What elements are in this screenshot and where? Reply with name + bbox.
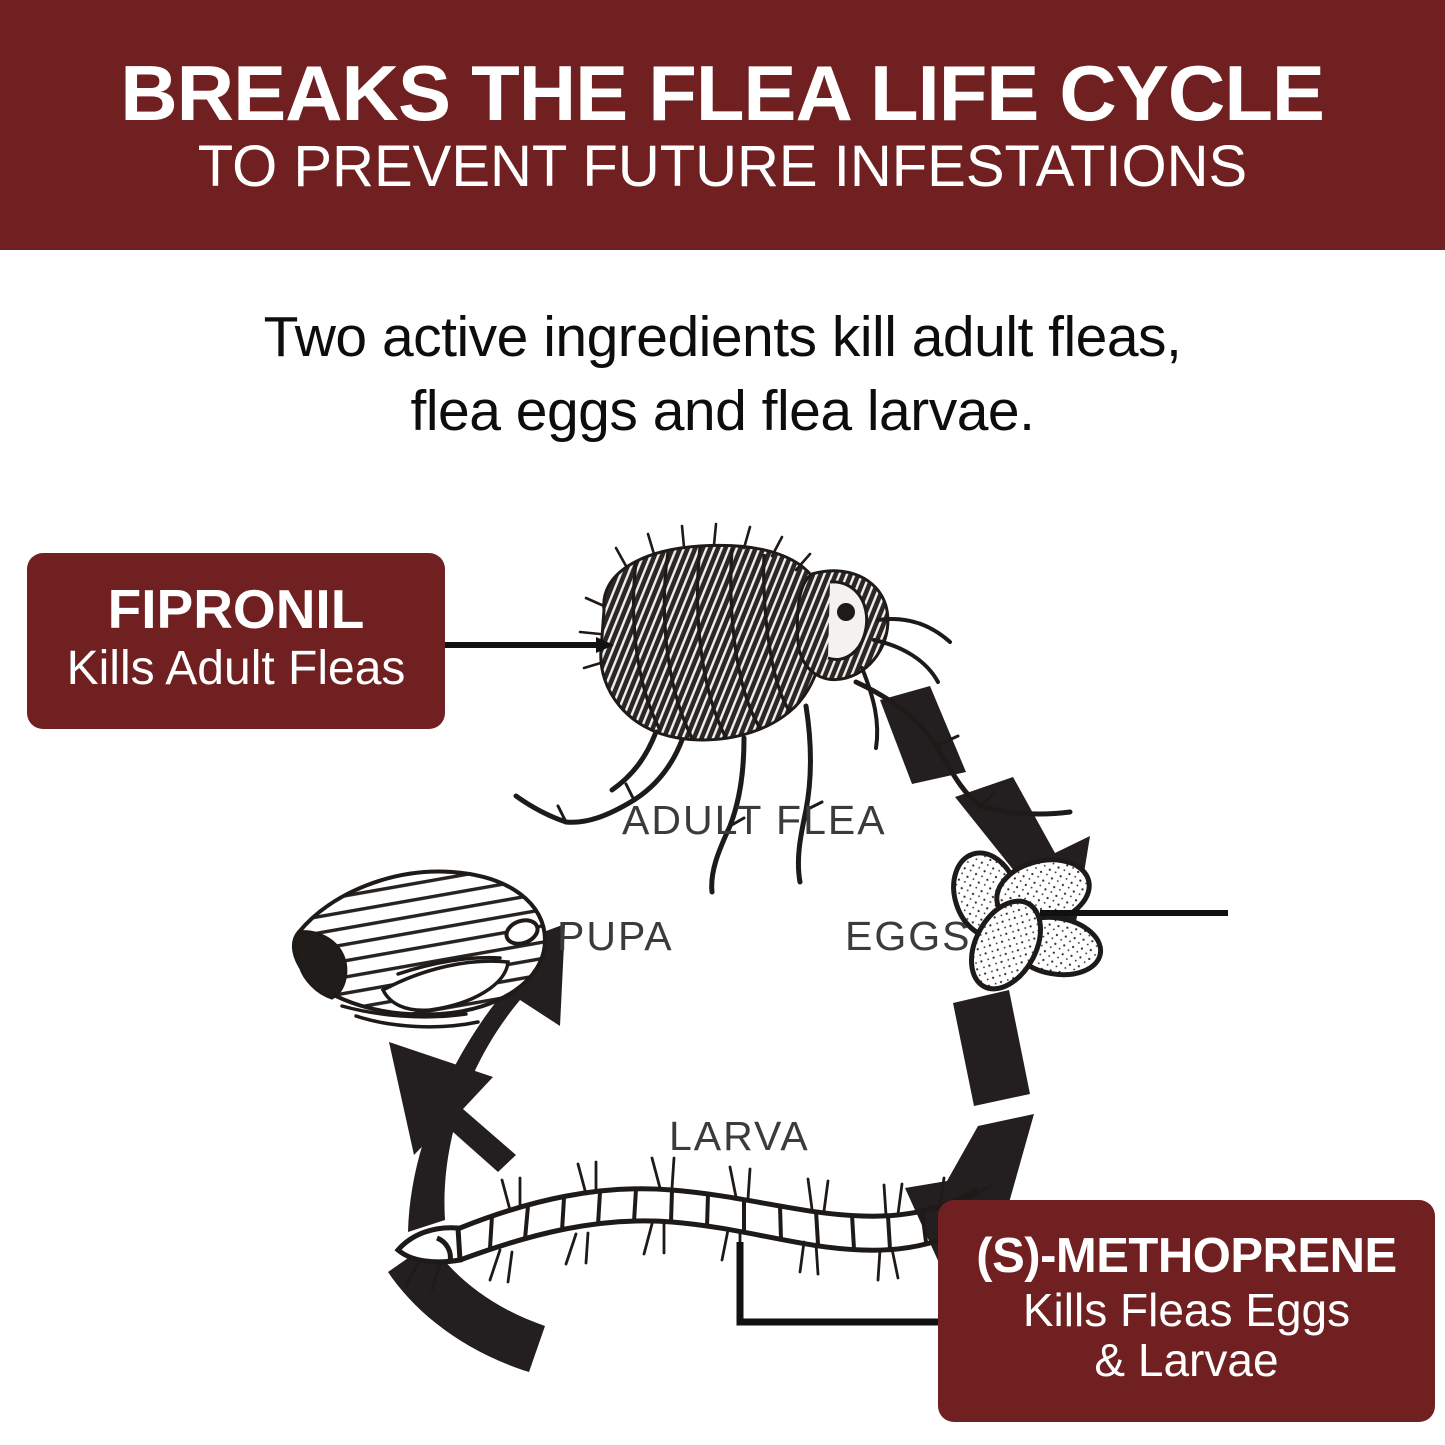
callout-methoprene: (S)-METHOPRENE Kills Fleas Eggs & Larvae (938, 1200, 1435, 1422)
stage-label-eggs: EGGS (845, 913, 971, 960)
callout-methoprene-title: (S)-METHOPRENE (976, 1232, 1396, 1282)
callout-methoprene-subtitle-line-2: & Larvae (1023, 1336, 1350, 1386)
intro-line-2: flea eggs and flea larvae. (0, 374, 1445, 448)
stage-label-larva: LARVA (669, 1113, 810, 1160)
stage-label-pupa: PUPA (557, 913, 674, 960)
leader-line-fipronil-to-adult (440, 637, 614, 653)
stage-label-adult-flea: ADULT FLEA (622, 797, 887, 844)
header-banner: BREAKS THE FLEA LIFE CYCLE TO PREVENT FU… (0, 0, 1445, 250)
flea-larva-illustration (398, 1158, 998, 1290)
intro-text: Two active ingredients kill adult fleas,… (0, 300, 1445, 448)
infographic-page: BREAKS THE FLEA LIFE CYCLE TO PREVENT FU… (0, 0, 1445, 1445)
callout-fipronil: FIPRONIL Kills Adult Fleas (27, 553, 445, 729)
callout-fipronil-title: FIPRONIL (108, 581, 365, 637)
intro-line-1: Two active ingredients kill adult fleas, (0, 300, 1445, 374)
page-subtitle: TO PREVENT FUTURE INFESTATIONS (198, 138, 1247, 196)
callout-methoprene-subtitle-line-1: Kills Fleas Eggs (1023, 1286, 1350, 1336)
callout-methoprene-subtitle: Kills Fleas Eggs & Larvae (1023, 1286, 1350, 1385)
page-title: BREAKS THE FLEA LIFE CYCLE (121, 54, 1325, 132)
callout-fipronil-subtitle: Kills Adult Fleas (67, 643, 406, 695)
leader-line-larva-to-methoprene (740, 1242, 944, 1322)
